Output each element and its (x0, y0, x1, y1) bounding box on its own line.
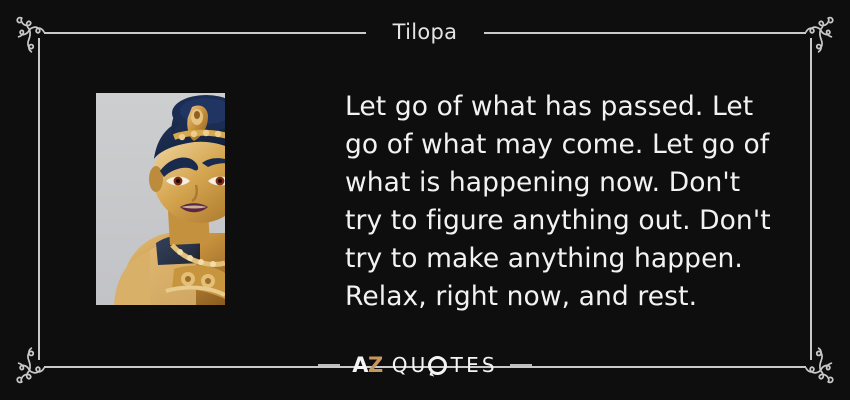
author-name: Tilopa (0, 18, 850, 46)
logo-rule-left (318, 364, 340, 366)
logo-word-quotes: QU TES (392, 355, 498, 375)
quote-text: Let go of what has passed. Let go of wha… (345, 88, 777, 316)
logo-wordmark: A Z QU TES (352, 352, 498, 378)
logo-word-part-2: TES (451, 355, 498, 375)
author-portrait (96, 93, 225, 305)
logo-letter-a: A (352, 355, 368, 376)
speech-bubble-icon (428, 356, 447, 375)
quote-card: Tilopa (0, 0, 850, 400)
logo-letter-z: Z (368, 355, 383, 376)
frame-rule-right (810, 38, 812, 360)
frame-rule-left (38, 38, 40, 360)
logo-rule-right (510, 364, 532, 366)
logo-word-part-1: QU (392, 355, 429, 375)
site-logo[interactable]: A Z QU TES (0, 352, 850, 378)
